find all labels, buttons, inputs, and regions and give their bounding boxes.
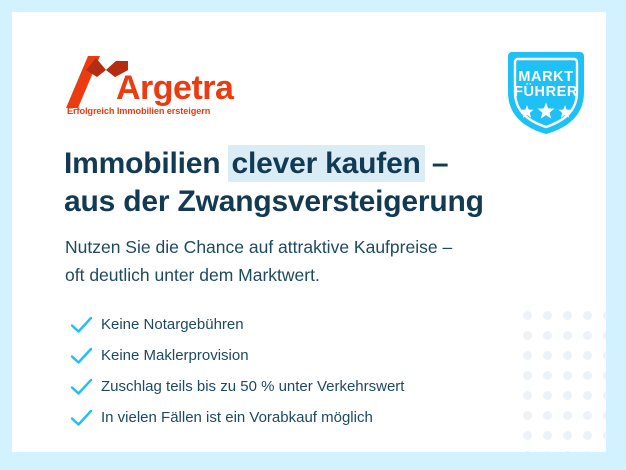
decor-dot: [563, 311, 572, 320]
list-item: Keine Notargebühren: [69, 309, 519, 340]
decor-dot: [583, 351, 592, 360]
decor-dot: [543, 431, 552, 440]
decor-dot: [543, 371, 552, 380]
benefits-checklist: Keine Notargebühren Keine Maklerprovisio…: [69, 309, 519, 433]
decor-dot: [563, 371, 572, 380]
check-icon: [69, 313, 95, 337]
decor-dot: [583, 371, 592, 380]
decor-dot: [543, 311, 552, 320]
decor-dot: [523, 331, 532, 340]
list-item-label: Keine Notargebühren: [101, 316, 244, 333]
market-leader-badge: MARKT FÜHRER: [499, 48, 593, 138]
decor-dot: [583, 331, 592, 340]
argetra-logo[interactable]: Argetra Erfolgreich Immobilien ersteiger…: [66, 56, 216, 122]
dot-grid-decoration: [523, 311, 606, 452]
decor-dot: [583, 311, 592, 320]
list-item-label: Keine Maklerprovision: [101, 347, 249, 364]
decor-dot: [603, 411, 606, 420]
decor-dot: [523, 311, 532, 320]
logo-tagline: Erfolgreich Immobilien ersteigern: [67, 106, 210, 116]
decor-dot: [603, 371, 606, 380]
decor-dot: [563, 431, 572, 440]
check-icon: [69, 375, 95, 399]
decor-dot: [543, 411, 552, 420]
decor-dot: [583, 431, 592, 440]
decor-dot: [583, 451, 592, 452]
list-item: Zuschlag teils bis zu 50 % unter Verkehr…: [69, 371, 519, 402]
decor-dot: [523, 351, 532, 360]
check-icon: [69, 406, 95, 430]
badge-line-1: MARKT: [499, 69, 593, 85]
subheading: Nutzen Sie die Chance auf attraktive Kau…: [65, 234, 452, 289]
decor-dot: [543, 331, 552, 340]
decor-dot: [583, 411, 592, 420]
headline-text-dash: –: [424, 147, 449, 180]
decor-dot: [603, 391, 606, 400]
list-item: In vielen Fällen ist ein Vorabkauf mögli…: [69, 402, 519, 433]
decor-dot: [543, 391, 552, 400]
decor-dot: [563, 451, 572, 452]
headline-line-2: aus der Zwangsversteigerung: [64, 183, 484, 221]
decor-dot: [603, 451, 606, 452]
promo-banner: Argetra Erfolgreich Immobilien ersteiger…: [0, 0, 626, 470]
decor-dot: [563, 391, 572, 400]
badge-line-2: FÜHRER: [499, 84, 593, 100]
headline-highlight: clever kaufen: [228, 145, 425, 182]
banner-card: Argetra Erfolgreich Immobilien ersteiger…: [12, 12, 606, 452]
headline-line-1: Immobilien clever kaufen –: [64, 145, 484, 183]
logo-wordmark: Argetra: [116, 71, 233, 105]
decor-dot: [563, 411, 572, 420]
badge-stars: [499, 102, 593, 125]
decor-dot: [603, 431, 606, 440]
decor-dot: [603, 331, 606, 340]
decor-dot: [543, 451, 552, 452]
decor-dot: [523, 431, 532, 440]
decor-dot: [523, 411, 532, 420]
decor-dot: [543, 351, 552, 360]
decor-dot: [523, 391, 532, 400]
list-item-label: Zuschlag teils bis zu 50 % unter Verkehr…: [101, 378, 404, 395]
headline-text-lead: Immobilien: [64, 147, 229, 180]
decor-dot: [603, 351, 606, 360]
decor-dot: [523, 451, 532, 452]
check-icon: [69, 344, 95, 368]
decor-dot: [523, 371, 532, 380]
page-title: Immobilien clever kaufen – aus der Zwang…: [64, 145, 484, 222]
decor-dot: [563, 331, 572, 340]
decor-dot: [563, 351, 572, 360]
subheading-line-1: Nutzen Sie die Chance auf attraktive Kau…: [65, 234, 452, 262]
subheading-line-2: oft deutlich unter dem Marktwert.: [65, 262, 452, 290]
list-item-label: In vielen Fällen ist ein Vorabkauf mögli…: [101, 409, 373, 426]
decor-dot: [603, 311, 606, 320]
list-item: Keine Maklerprovision: [69, 340, 519, 371]
decor-dot: [583, 391, 592, 400]
